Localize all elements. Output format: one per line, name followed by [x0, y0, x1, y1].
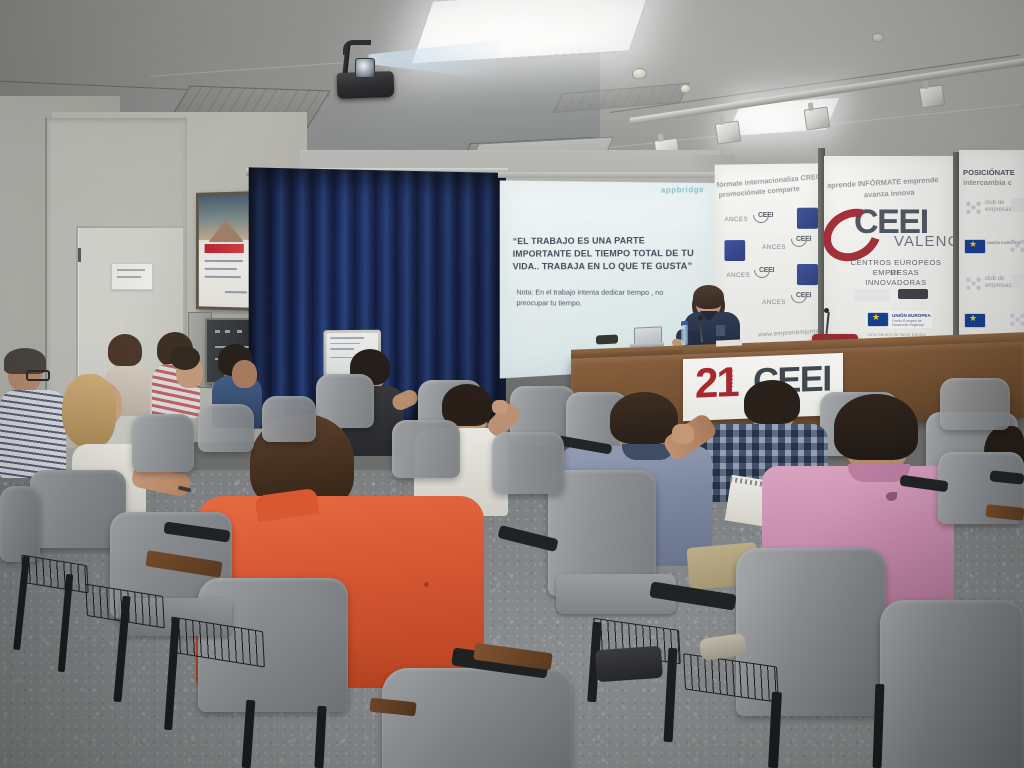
audience-chair-back[interactable]: [880, 600, 1024, 768]
attendee-head: [232, 360, 257, 388]
water-bottle: [681, 325, 688, 345]
table-equipment: [596, 334, 618, 344]
audience-chair-back[interactable]: [132, 414, 194, 472]
banner-center-headline-2: avanza innova: [864, 188, 915, 200]
ceei-valencia-logo: CEEI VALENCIA: [854, 208, 953, 250]
banner-center-headline-1: aprende INFÓRMATE emprende: [827, 175, 939, 190]
ceei-logo-text: CEEI: [759, 267, 774, 274]
ceei-valencia-wordmark: VALENCIA: [894, 233, 953, 250]
conference-room-photo: appbridge “EL TRABAJO ES UNA PARTE IMPOR…: [0, 0, 1024, 768]
attendee-hair-bun: [170, 346, 200, 370]
audience-chair-back[interactable]: [198, 404, 254, 452]
sponsor-logo: [1011, 198, 1024, 212]
track-spotlight-icon: [804, 106, 831, 130]
smoke-detector-icon: [632, 68, 647, 79]
speaker-hair: [693, 285, 724, 309]
sponsor-logo: [1011, 274, 1024, 288]
eu-flag-icon: [965, 240, 985, 253]
sponsor-logo-square: [797, 264, 818, 285]
smoke-detector-icon: [872, 33, 884, 42]
attendee-hair: [108, 334, 142, 366]
audience-chair-back[interactable]: [0, 486, 40, 562]
banner-right-headline-1: POSICIÓNATE: [963, 168, 1015, 177]
anniversary-label: AÑOS: [729, 368, 735, 387]
projector-lens-icon: [355, 58, 375, 78]
microphone-head-icon: [824, 308, 829, 313]
shirt-button-icon: [424, 582, 429, 587]
eu-funding-logo: UNIÓN EUROPEA Fondo Europeo de Desarroll…: [866, 311, 932, 328]
ceei-tagline-2: EMPRESAS INNOVADORAS: [850, 268, 942, 288]
track-spotlight-icon: [919, 84, 946, 108]
attendee-glasses-icon[interactable]: [26, 370, 50, 381]
attendee-torso: [0, 390, 66, 478]
banner-center: aprende INFÓRMATE emprende avanza innova…: [824, 156, 953, 362]
track-spotlight-icon: [715, 120, 742, 144]
club-empresas-logo: [965, 276, 982, 291]
impiva-logo: [898, 289, 928, 299]
slide-quote-text: “EL TRABAJO ES UNA PARTE IMPORTANTE DEL …: [513, 233, 695, 272]
polo-logo-icon: [886, 492, 897, 501]
slide-note-text: Nota: En el trabajo intenta dedicar tiem…: [516, 287, 688, 309]
eu-title: UNIÓN EUROPEA: [892, 313, 931, 318]
framed-wall-poster: [196, 191, 257, 311]
smoke-detector-icon: [680, 84, 691, 93]
sponsor-logo-square: [797, 208, 818, 229]
attendee-hair: [834, 394, 918, 460]
bag-on-floor: [595, 646, 663, 683]
attendee-hand: [672, 424, 694, 444]
generalitat-valenciana-logo: [854, 289, 890, 301]
attendee-hair: [744, 380, 800, 424]
eu-flag-icon: [965, 314, 985, 327]
ceei-logo-text: CEEI: [758, 212, 773, 219]
ances-logo-text: ANCES: [726, 272, 750, 279]
speaker-badge: [716, 325, 725, 336]
ceei-logo-text: CEEI: [796, 236, 811, 243]
slide-logo: appbridge: [661, 185, 704, 195]
door-paper-sign: [111, 263, 153, 290]
club-empresas-logo: [1009, 238, 1024, 253]
sponsor-logo-square: [724, 240, 745, 261]
microphone-head-icon: [698, 315, 703, 320]
ances-logo-text: ANCES: [762, 299, 786, 306]
club-empresas-logo: [965, 200, 982, 215]
audience-chair-back[interactable]: [492, 432, 564, 494]
eu-subtitle: Fondo Europeo de Desarrollo Regional: [892, 319, 930, 327]
attendee-hair: [62, 374, 116, 448]
audience-chair-back[interactable]: [392, 420, 460, 478]
banner-right-headline-2: intercambia c: [963, 178, 1012, 187]
audience-chair-back[interactable]: [262, 396, 316, 442]
eu-flag-icon: [868, 313, 888, 326]
banner-left-url: www.emprenemjunts.com: [758, 327, 818, 339]
banner-right: POSICIÓNATE intercambia c club de empres…: [959, 150, 1024, 362]
door-hinge-icon: [78, 248, 81, 262]
ances-logo-text: ANCES: [724, 216, 748, 223]
club-label: club de: [985, 276, 1004, 283]
ceei-logo-text: CEEI: [796, 292, 811, 299]
club-label: club de: [985, 200, 1004, 207]
club-label: empresas: [985, 207, 1011, 214]
attendee-hand: [492, 400, 508, 414]
ances-logo-text: ANCES: [762, 244, 786, 251]
audience-chair-back[interactable]: [382, 668, 572, 768]
club-empresas-logo: [1009, 312, 1024, 327]
club-label: empresas: [985, 283, 1011, 290]
audience-chair-back[interactable]: [940, 378, 1010, 430]
